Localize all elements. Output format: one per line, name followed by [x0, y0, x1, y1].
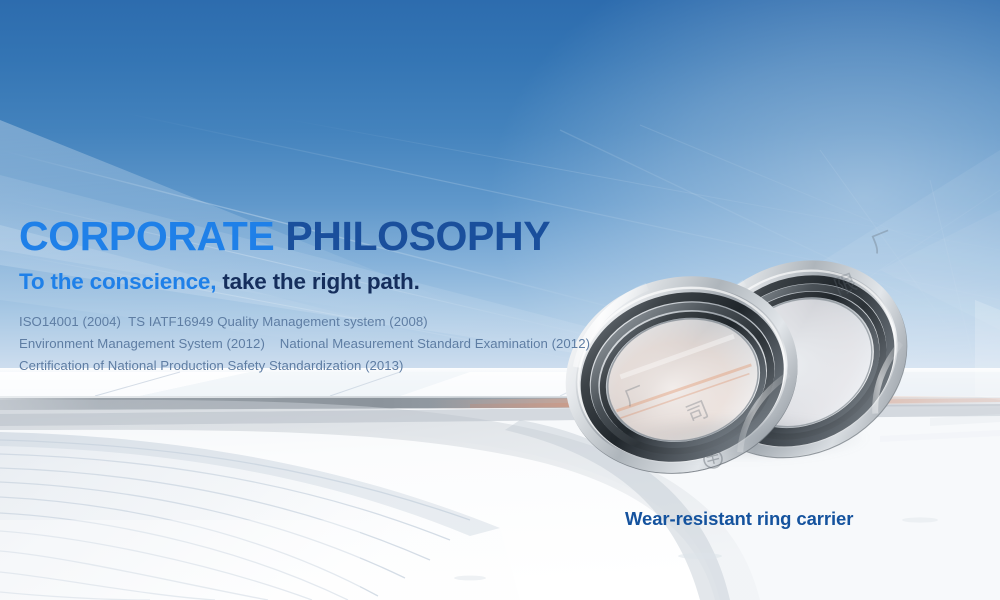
- certification-line-2: Environment Management System (2012) Nat…: [19, 333, 639, 355]
- product-caption: Wear-resistant ring carrier: [625, 508, 853, 530]
- headline-word-philosophy: PHILOSOPHY: [285, 213, 550, 259]
- certification-list: ISO14001 (2004) TS IATF16949 Quality Man…: [19, 311, 639, 377]
- svg-text:厂: 厂: [868, 228, 898, 259]
- headline-copy-block: CORPORATE PHILOSOPHY To the conscience, …: [19, 213, 639, 377]
- page-title: CORPORATE PHILOSOPHY: [19, 213, 639, 259]
- certification-line-1: ISO14001 (2004) TS IATF16949 Quality Man…: [19, 311, 639, 333]
- ring-drop-shadow: [575, 408, 905, 468]
- subheadline-part-1: To the conscience,: [19, 269, 216, 294]
- subheadline: To the conscience, take the right path.: [19, 268, 639, 296]
- subheadline-part-2: take the right path.: [222, 269, 419, 294]
- headline-word-corporate: CORPORATE: [19, 213, 274, 259]
- certification-line-3: Certification of National Production Saf…: [19, 355, 639, 377]
- corporate-philosophy-banner: 厂 限 司 厂 CORPORATE PHILOSOPHY To the cons…: [0, 0, 1000, 600]
